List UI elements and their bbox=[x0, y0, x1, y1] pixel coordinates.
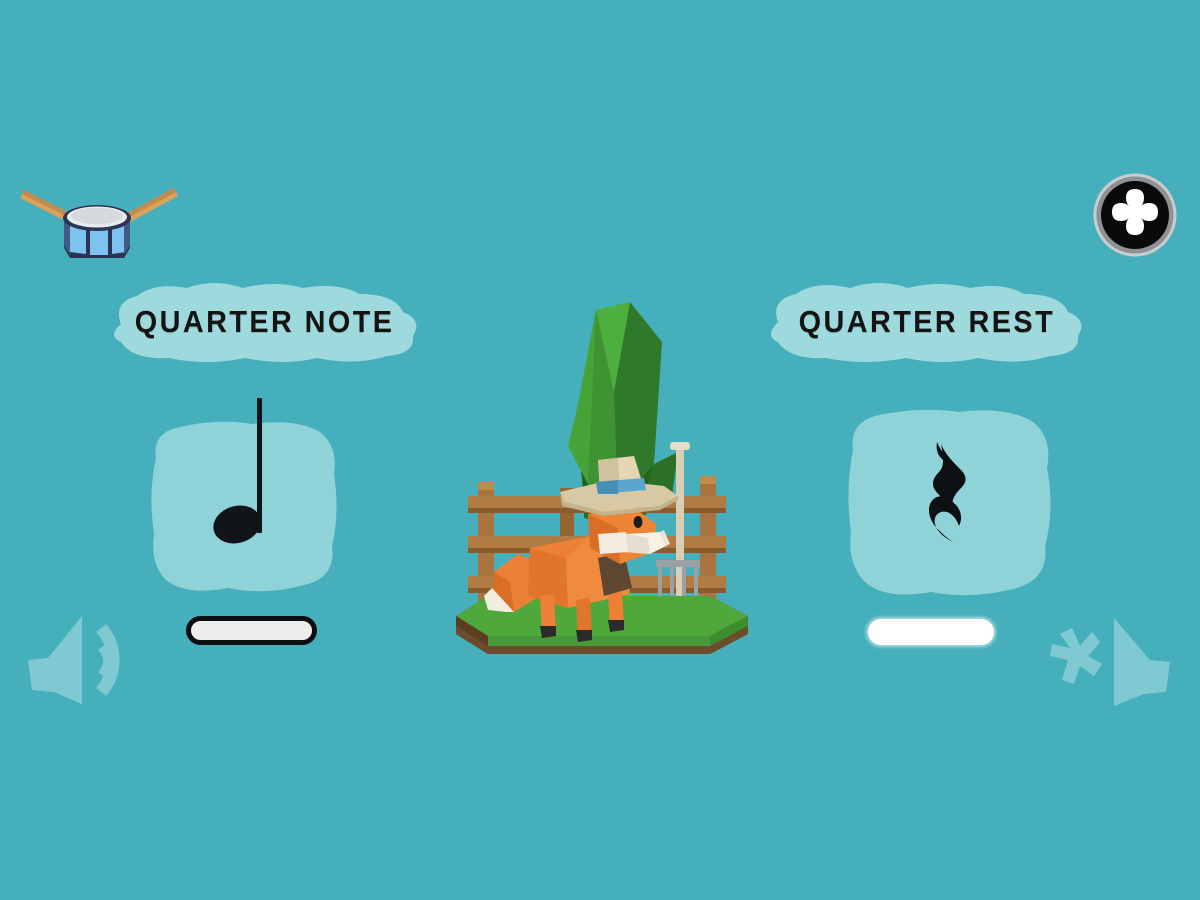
glyph-card-quarter-note[interactable] bbox=[146, 418, 342, 594]
speaker-muted-svg bbox=[1040, 606, 1178, 710]
quarter-note-glyph-wrap bbox=[209, 434, 279, 578]
speaker-muted-icon[interactable] bbox=[1040, 606, 1178, 710]
diorama-svg bbox=[448, 296, 758, 666]
option-label-quarter-note: QUARTER NOTE bbox=[103, 280, 427, 364]
snare-drum-icon[interactable] bbox=[12, 168, 182, 273]
quarter-note-glyph bbox=[209, 398, 279, 578]
close-button[interactable] bbox=[1092, 172, 1178, 258]
option-label-quarter-rest: QUARTER REST bbox=[762, 280, 1092, 364]
option-label-text: QUARTER REST bbox=[799, 304, 1055, 340]
speaker-on-icon[interactable] bbox=[20, 606, 152, 710]
fox-farm-diorama bbox=[448, 296, 758, 666]
answer-pill-quarter-rest[interactable] bbox=[868, 619, 994, 645]
option-label-text: QUARTER NOTE bbox=[135, 304, 395, 340]
close-x-icon bbox=[1092, 172, 1178, 258]
quarter-rest-glyph bbox=[911, 438, 989, 562]
quarter-rest-glyph-wrap bbox=[911, 438, 989, 567]
answer-pill-quarter-note[interactable] bbox=[186, 616, 317, 645]
speaker-on-svg bbox=[20, 606, 152, 710]
glyph-card-quarter-rest[interactable] bbox=[841, 406, 1059, 598]
game-screen: QUARTER NOTE QUARTER REST bbox=[0, 0, 1200, 900]
snare-drum-svg bbox=[12, 168, 182, 273]
